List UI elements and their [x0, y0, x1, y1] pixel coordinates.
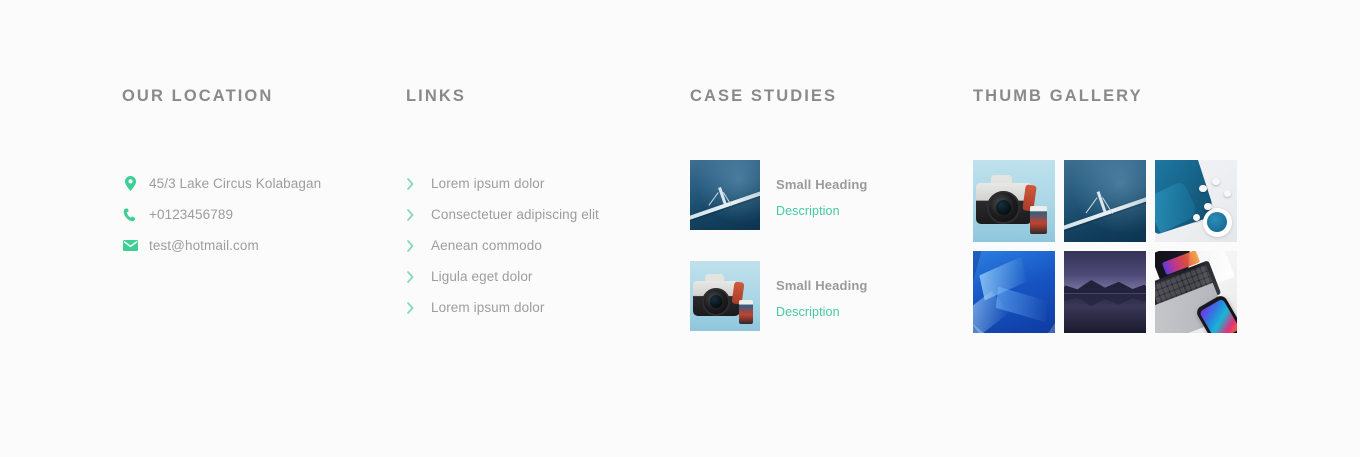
chevron-right-icon	[406, 301, 415, 315]
footer-column-case-studies: CASE STUDIES Small Heading Description	[690, 86, 960, 362]
links-title: LINKS	[406, 86, 676, 106]
mountain-lake-dusk-thumbnail[interactable]	[1064, 251, 1146, 333]
link-item[interactable]: Consectetuer adipiscing elit	[406, 199, 676, 230]
contact-list: 45/3 Lake Circus Kolabagan +0123456789	[122, 168, 392, 261]
case-study-description-link[interactable]: Description	[776, 305, 840, 319]
thumbnail-art	[690, 160, 760, 230]
contact-item-email[interactable]: test@hotmail.com	[122, 230, 392, 261]
contact-phone-text: +0123456789	[149, 206, 233, 224]
case-studies-list: Small Heading Description Small Heading …	[690, 160, 960, 331]
link-label[interactable]: Lorem ipsum dolor	[431, 175, 545, 193]
case-studies-title: CASE STUDIES	[690, 86, 960, 106]
thumbnail-art	[1064, 251, 1146, 333]
footer-column-our-location: OUR LOCATION 45/3 Lake Circus Kolabagan	[122, 86, 392, 261]
thumbnail-art	[973, 251, 1055, 333]
laptop-and-phone-thumbnail[interactable]	[1155, 251, 1237, 333]
link-item[interactable]: Lorem ipsum dolor	[406, 168, 676, 199]
phone-icon	[122, 207, 138, 223]
bridge-over-water-thumbnail[interactable]	[1064, 160, 1146, 242]
footer-widgets: OUR LOCATION 45/3 Lake Circus Kolabagan	[0, 0, 1360, 457]
case-study-description-link[interactable]: Description	[776, 204, 840, 218]
thumbnail-art	[1064, 160, 1146, 242]
footer-column-links: LINKS Lorem ipsum dolor Consectetuer adi…	[406, 86, 676, 323]
envelope-icon	[122, 238, 138, 254]
case-study-heading: Small Heading	[776, 278, 868, 294]
vintage-camera-thumbnail[interactable]	[690, 261, 760, 331]
chevron-right-icon	[406, 270, 415, 284]
blue-cloth-earbuds-cup-thumbnail[interactable]	[1155, 160, 1237, 242]
link-label[interactable]: Ligula eget dolor	[431, 268, 533, 286]
link-label[interactable]: Lorem ipsum dolor	[431, 299, 545, 317]
footer-column-thumb-gallery: THUMB GALLERY	[973, 86, 1253, 333]
contact-email-text: test@hotmail.com	[149, 237, 259, 255]
vintage-camera-thumbnail[interactable]	[973, 160, 1055, 242]
case-study-item[interactable]: Small Heading Description	[690, 160, 960, 230]
case-study-body: Small Heading Description	[776, 261, 868, 321]
thumbnail-art	[973, 160, 1055, 242]
case-study-body: Small Heading Description	[776, 160, 868, 220]
blue-crystal-ice-thumbnail[interactable]	[973, 251, 1055, 333]
case-study-item[interactable]: Small Heading Description	[690, 261, 960, 331]
bridge-over-water-thumbnail[interactable]	[690, 160, 760, 230]
link-item[interactable]: Lorem ipsum dolor	[406, 292, 676, 323]
links-list: Lorem ipsum dolor Consectetuer adipiscin…	[406, 168, 676, 323]
link-item[interactable]: Ligula eget dolor	[406, 261, 676, 292]
thumb-gallery-title: THUMB GALLERY	[973, 86, 1253, 106]
thumbnail-art	[1155, 251, 1237, 333]
link-label[interactable]: Consectetuer adipiscing elit	[431, 206, 599, 224]
contact-address-text: 45/3 Lake Circus Kolabagan	[149, 175, 321, 193]
map-pin-icon	[122, 176, 138, 192]
thumb-gallery-grid	[973, 160, 1253, 333]
link-label[interactable]: Aenean commodo	[431, 237, 542, 255]
thumbnail-art	[690, 261, 760, 331]
chevron-right-icon	[406, 177, 415, 191]
thumbnail-art	[1155, 160, 1237, 242]
contact-item-address[interactable]: 45/3 Lake Circus Kolabagan	[122, 168, 392, 199]
chevron-right-icon	[406, 208, 415, 222]
link-item[interactable]: Aenean commodo	[406, 230, 676, 261]
our-location-title: OUR LOCATION	[122, 86, 392, 106]
chevron-right-icon	[406, 239, 415, 253]
contact-item-phone[interactable]: +0123456789	[122, 199, 392, 230]
case-study-heading: Small Heading	[776, 177, 868, 193]
